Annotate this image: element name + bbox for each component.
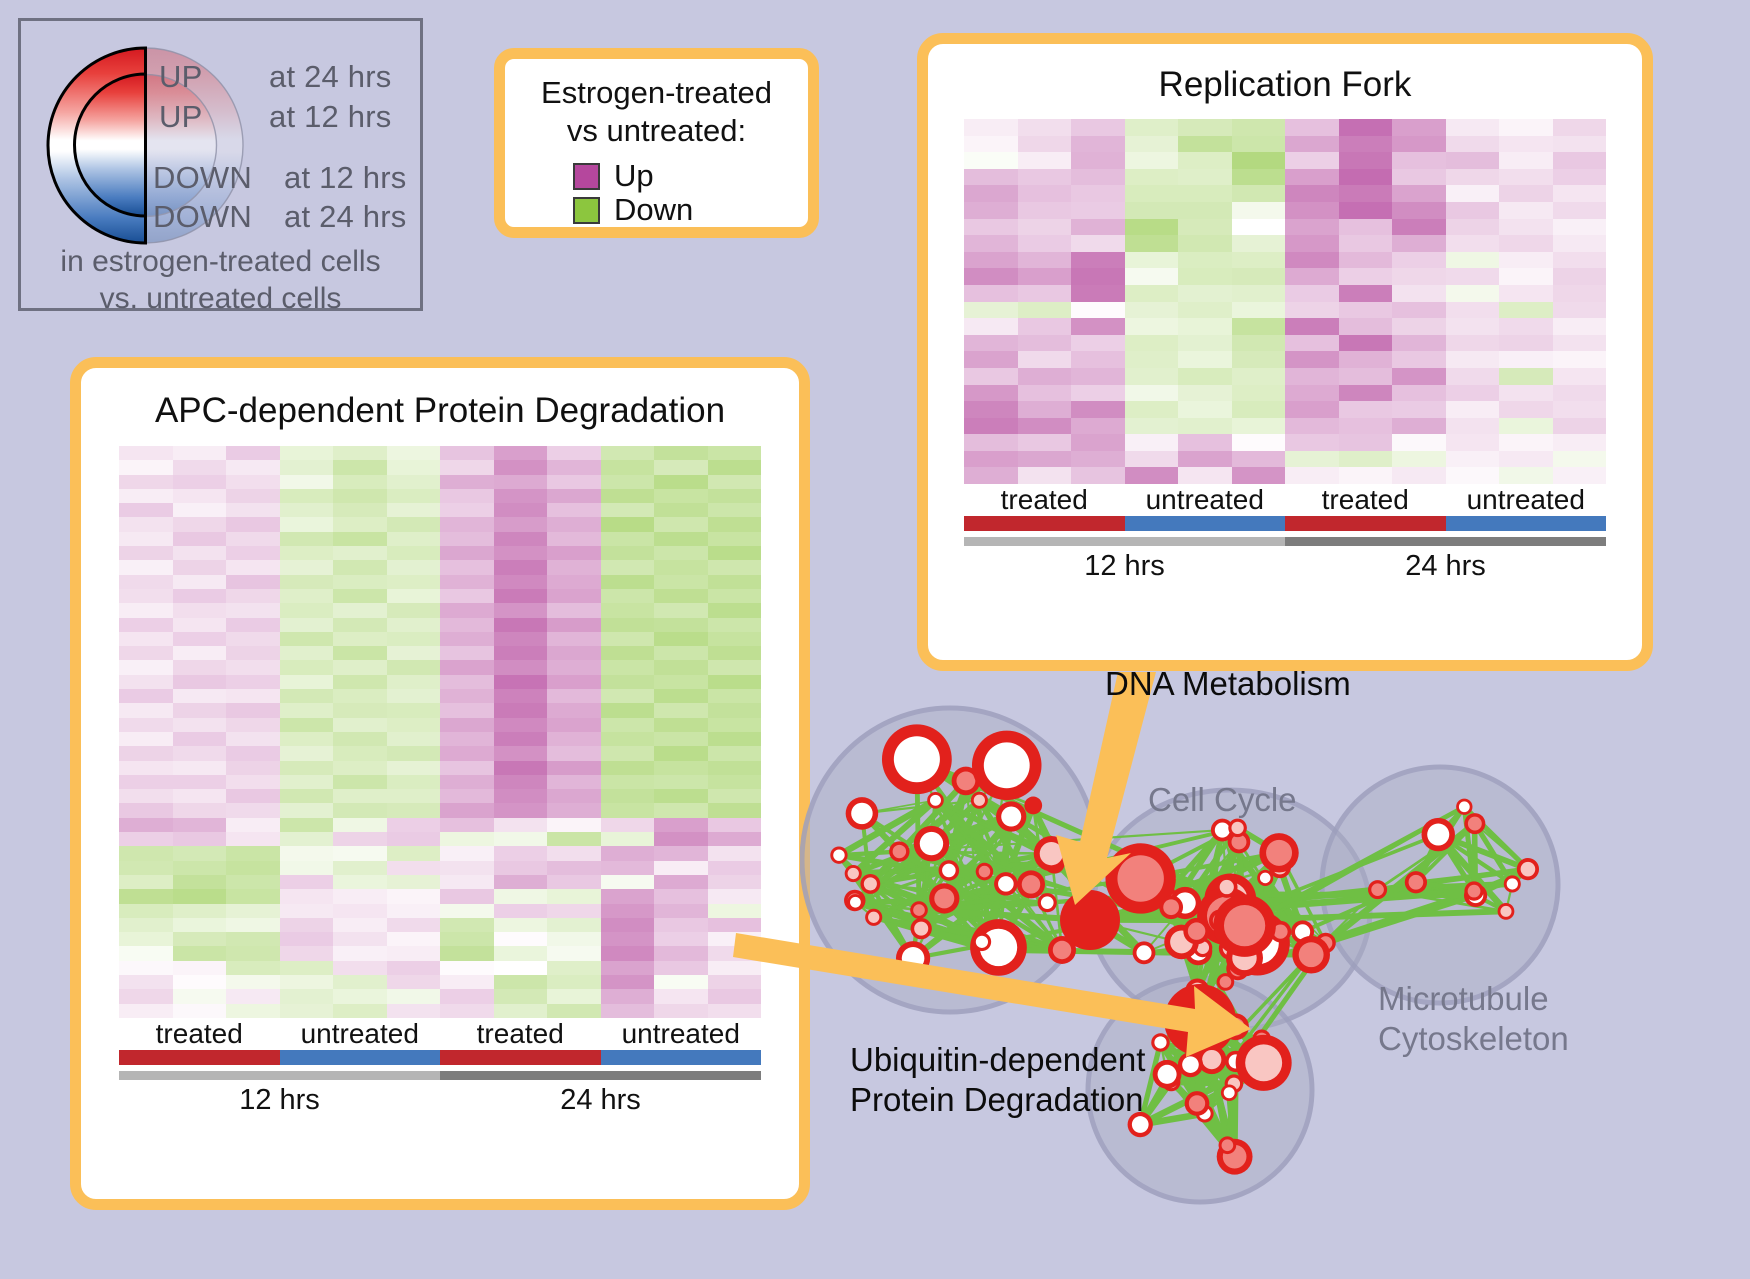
heatmap-cell [547, 789, 601, 803]
treatment-label: treated [1285, 484, 1446, 516]
heatmap-cell [387, 646, 441, 660]
heatmap-cell [1232, 169, 1286, 186]
heatmap-cell [440, 961, 494, 975]
heatmap-cell [440, 746, 494, 760]
treatment-color-bar [1446, 516, 1607, 531]
heatmap-cell [494, 803, 548, 817]
heatmap-cell [1285, 169, 1339, 186]
heatmap-cell [1178, 451, 1232, 468]
network-node-inner [934, 888, 954, 908]
heatmap-cell [1018, 119, 1072, 136]
heatmap-cell [387, 532, 441, 546]
heatmap-cell [1339, 368, 1393, 385]
heatmap-cell [440, 989, 494, 1003]
heatmap-cell [1339, 401, 1393, 418]
heatmap-cell [1178, 235, 1232, 252]
heatmap-cell [654, 603, 708, 617]
heatmap-cell [1499, 385, 1553, 402]
heatmap-cell [1553, 451, 1607, 468]
heatmap-cell [280, 718, 334, 732]
heatmap-cell [280, 446, 334, 460]
pathway-network-diagram [800, 620, 1750, 1279]
heatmap-cell [654, 775, 708, 789]
heatmap-cell [1018, 385, 1072, 402]
heatmap-cell [494, 946, 548, 960]
heatmap-cell [601, 861, 655, 875]
heatmap-cell [494, 660, 548, 674]
heatmap-cell [1285, 434, 1339, 451]
heatmap-cell [387, 618, 441, 632]
network-node-inner [974, 795, 985, 806]
heatmap-cell [1285, 119, 1339, 136]
heatmap-cell [1125, 202, 1179, 219]
heatmap-cell [280, 946, 334, 960]
heatmap-cell [1499, 202, 1553, 219]
heatmap-cell [280, 475, 334, 489]
heatmap-cell [601, 546, 655, 560]
heatmap-cell [226, 589, 280, 603]
heatmap-cell [1232, 268, 1286, 285]
heatmap-cell [333, 532, 387, 546]
heatmap-cell [1018, 368, 1072, 385]
heatmap-cell [1125, 152, 1179, 169]
heatmap-cell [387, 761, 441, 775]
heatmap-cell [1178, 401, 1232, 418]
heatmap-cell [226, 489, 280, 503]
heatmap-cell [708, 889, 762, 903]
heatmap-cell [333, 818, 387, 832]
network-node-inner [1187, 1016, 1203, 1032]
heatmap-cell [387, 703, 441, 717]
heatmap-cell [708, 775, 762, 789]
heatmap-cell [333, 918, 387, 932]
heatmap-cell [1392, 202, 1446, 219]
heatmap-cell [333, 904, 387, 918]
network-node-inner [894, 736, 940, 782]
heatmap-cell [654, 589, 708, 603]
heatmap-cell [708, 861, 762, 875]
heatmap-cell [494, 532, 548, 546]
heatmap-cell [1392, 434, 1446, 451]
heatmap-cell [547, 918, 601, 932]
heatmap-cell [1553, 285, 1607, 302]
heatmap-cell [440, 603, 494, 617]
network-node-inner [1053, 941, 1071, 959]
heatmap-cell [708, 961, 762, 975]
up-label: Up [614, 159, 654, 193]
heatmap-cell [547, 446, 601, 460]
heatmap-cell [333, 460, 387, 474]
network-node-inner [1022, 875, 1041, 894]
heatmap-cell [708, 618, 762, 632]
heatmap-cell [440, 846, 494, 860]
network-node-inner [1459, 801, 1470, 812]
network-node-inner [1215, 823, 1230, 838]
treatment-label: untreated [280, 1018, 441, 1050]
heatmap-cell [226, 546, 280, 560]
heatmap-cell [1285, 451, 1339, 468]
replication-fork-treatment-labels: treateduntreatedtreateduntreated [964, 484, 1606, 516]
heatmap-cell [601, 646, 655, 660]
heatmap-cell [387, 803, 441, 817]
network-node [1024, 797, 1042, 815]
heatmap-cell [547, 832, 601, 846]
heatmap-cell [1339, 351, 1393, 368]
heatmap-cell [1339, 202, 1393, 219]
heatmap-cell [601, 932, 655, 946]
heatmap-cell [708, 675, 762, 689]
heatmap-cell [1499, 252, 1553, 269]
ring-row-1-time: at 12 hrs [269, 99, 391, 135]
heatmap-cell [494, 632, 548, 646]
heatmap-cell [1499, 285, 1553, 302]
heatmap-cell [119, 546, 173, 560]
heatmap-cell [173, 889, 227, 903]
up-color-swatch [573, 163, 600, 190]
heatmap-cell [280, 618, 334, 632]
heatmap-cell [387, 932, 441, 946]
heatmap-cell [1071, 252, 1125, 269]
heatmap-cell [601, 746, 655, 760]
network-node-inner [1189, 1095, 1205, 1111]
heatmap-cell [1232, 335, 1286, 352]
heatmap-cell [1339, 152, 1393, 169]
heatmap-cell [333, 846, 387, 860]
heatmap-cell [601, 660, 655, 674]
heatmap-cell [173, 875, 227, 889]
heatmap-cell [280, 489, 334, 503]
network-node-inner [976, 936, 988, 948]
heatmap-cell [1018, 185, 1072, 202]
heatmap-cell [440, 789, 494, 803]
heatmap-cell [1499, 401, 1553, 418]
heatmap-cell [1285, 351, 1339, 368]
heatmap-cell [226, 832, 280, 846]
heatmap-cell [1125, 467, 1179, 484]
heatmap-cell [1446, 252, 1500, 269]
heatmap-cell [547, 932, 601, 946]
heatmap-cell [333, 889, 387, 903]
heatmap-cell [280, 832, 334, 846]
heatmap-cell [1018, 136, 1072, 153]
heatmap-cell [226, 818, 280, 832]
heatmap-cell [1071, 318, 1125, 335]
heatmap-cell [173, 560, 227, 574]
heatmap-cell [280, 517, 334, 531]
heatmap-cell [173, 904, 227, 918]
heatmap-cell [440, 660, 494, 674]
heatmap-cell [1018, 318, 1072, 335]
network-node-inner [1231, 822, 1243, 834]
heatmap-cell [1339, 451, 1393, 468]
heatmap-cell [1392, 252, 1446, 269]
heatmap-cell [708, 689, 762, 703]
heatmap-cell [1553, 302, 1607, 319]
heatmap-cell [173, 789, 227, 803]
heatmap-cell [708, 818, 762, 832]
network-node-inner [1507, 878, 1518, 889]
heatmap-cell [494, 775, 548, 789]
heatmap-cell [440, 532, 494, 546]
heatmap-cell [708, 603, 762, 617]
heatmap-cell [1446, 136, 1500, 153]
heatmap-cell [440, 889, 494, 903]
heatmap-cell [1392, 268, 1446, 285]
heatmap-cell [280, 546, 334, 560]
heatmap-cell [280, 1004, 334, 1018]
heatmap-cell [1499, 235, 1553, 252]
network-node-inner [1001, 807, 1021, 827]
heatmap-cell [226, 660, 280, 674]
heatmap-cell [333, 575, 387, 589]
heatmap-cell [173, 961, 227, 975]
network-node-inner [1227, 1018, 1245, 1036]
heatmap-cell [440, 546, 494, 560]
heatmap-cell [1392, 185, 1446, 202]
heatmap-cell [1125, 302, 1179, 319]
heatmap-cell [387, 1004, 441, 1018]
heatmap-cell [547, 989, 601, 1003]
replication-fork-time-bar [964, 537, 1606, 546]
heatmap-cell [708, 846, 762, 860]
heatmap-cell [1178, 219, 1232, 236]
heatmap-cell [1339, 302, 1393, 319]
heatmap-cell [547, 761, 601, 775]
heatmap-cell [387, 689, 441, 703]
heatmap-cell [1339, 335, 1393, 352]
heatmap-cell [440, 875, 494, 889]
network-node-inner [1299, 942, 1324, 967]
heatmap-cell [654, 761, 708, 775]
heatmap-cell [1499, 467, 1553, 484]
heatmap-cell [1553, 185, 1607, 202]
heatmap-cell [440, 460, 494, 474]
heatmap-cell [1446, 318, 1500, 335]
heatmap-cell [1232, 185, 1286, 202]
replication-fork-title: Replication Fork [928, 44, 1642, 105]
heatmap-cell [1499, 169, 1553, 186]
heatmap-cell [1125, 268, 1179, 285]
heatmap-cell [494, 932, 548, 946]
heatmap-cell [226, 775, 280, 789]
heatmap-cell [964, 302, 1018, 319]
heatmap-cell [1392, 119, 1446, 136]
heatmap-cell [494, 503, 548, 517]
heatmap-cell [1285, 335, 1339, 352]
heatmap-cell [964, 285, 1018, 302]
treatment-color-bar [119, 1050, 280, 1065]
heatmap-cell [440, 689, 494, 703]
heatmap-cell [1232, 252, 1286, 269]
heatmap-cell [494, 560, 548, 574]
heatmap-cell [708, 932, 762, 946]
heatmap-cell [494, 718, 548, 732]
heatmap-cell [280, 575, 334, 589]
heatmap-cell [547, 675, 601, 689]
heatmap-cell [964, 418, 1018, 435]
heatmap-cell [1553, 467, 1607, 484]
heatmap-cell [601, 732, 655, 746]
heatmap-cell [1018, 235, 1072, 252]
heatmap-cell [119, 918, 173, 932]
heatmap-cell [708, 761, 762, 775]
microtubule-label-line-2: Cytoskeleton [1378, 1019, 1569, 1059]
heatmap-cell [1499, 418, 1553, 435]
network-node-inner [1163, 899, 1179, 915]
heatmap-cell [333, 789, 387, 803]
heatmap-cell [1285, 467, 1339, 484]
heatmap-cell [1178, 202, 1232, 219]
heatmap-cell [173, 503, 227, 517]
heatmap-cell [280, 989, 334, 1003]
heatmap-cell [547, 689, 601, 703]
network-node-inner [1182, 1056, 1199, 1073]
heatmap-cell [964, 235, 1018, 252]
heatmap-cell [547, 575, 601, 589]
heatmap-cell [226, 789, 280, 803]
heatmap-cell [708, 446, 762, 460]
ring-row-2-direction: DOWN [153, 160, 252, 196]
heatmap-cell [333, 875, 387, 889]
heatmap-cell [173, 575, 227, 589]
heatmap-cell [1285, 385, 1339, 402]
heatmap-cell [1232, 385, 1286, 402]
heatmap-cell [1071, 335, 1125, 352]
heatmap-cell [654, 632, 708, 646]
heatmap-cell [547, 603, 601, 617]
heatmap-cell [173, 803, 227, 817]
heatmap-cell [1392, 285, 1446, 302]
treatment-label: untreated [1125, 484, 1286, 516]
heatmap-cell [173, 689, 227, 703]
heatmap-cell [440, 503, 494, 517]
heatmap-cell [119, 875, 173, 889]
heatmap-cell [1553, 219, 1607, 236]
network-node-inner [1427, 824, 1449, 846]
heatmap-cell [654, 703, 708, 717]
ring-row-1-direction: UP [159, 99, 202, 135]
heatmap-cell [1285, 285, 1339, 302]
heatmap-cell [1071, 434, 1125, 451]
heatmap-cell [1018, 434, 1072, 451]
apc-time-bar [119, 1071, 761, 1080]
heatmap-cell [173, 532, 227, 546]
heatmap-cell [280, 846, 334, 860]
heatmap-cell [280, 689, 334, 703]
heatmap-cell [1178, 185, 1232, 202]
heatmap-cell [1071, 169, 1125, 186]
heatmap-cell [280, 861, 334, 875]
heatmap-cell [1071, 451, 1125, 468]
heatmap-cell [494, 961, 548, 975]
network-node-inner [893, 845, 906, 858]
heatmap-cell [1339, 119, 1393, 136]
heatmap-cell [173, 775, 227, 789]
network-node-inner [833, 849, 844, 860]
heatmap-cell [601, 618, 655, 632]
heatmap-cell [333, 946, 387, 960]
heatmap-cell [226, 703, 280, 717]
ubiquitin-label-line-2: Protein Degradation [850, 1080, 1145, 1120]
heatmap-cell [547, 961, 601, 975]
legend-key-up: Up [573, 159, 808, 193]
heatmap-cell [1285, 418, 1339, 435]
heatmap-cell [387, 446, 441, 460]
heatmap-cell [601, 703, 655, 717]
heatmap-cell [1339, 169, 1393, 186]
heatmap-cell [1178, 418, 1232, 435]
heatmap-cell [1553, 169, 1607, 186]
heatmap-cell [708, 532, 762, 546]
heatmap-cell [1446, 169, 1500, 186]
down-label: Down [614, 193, 693, 227]
heatmap-cell [654, 904, 708, 918]
network-node-inner [1260, 873, 1271, 884]
heatmap-cell [1446, 401, 1500, 418]
heatmap-cell [226, 875, 280, 889]
time-label: 24 hrs [1285, 546, 1606, 583]
heatmap-cell [547, 946, 601, 960]
heatmap-cell [654, 746, 708, 760]
heatmap-cell [601, 632, 655, 646]
heatmap-cell [654, 989, 708, 1003]
heatmap-cell [964, 202, 1018, 219]
heatmap-cell [387, 589, 441, 603]
heatmap-cell [387, 575, 441, 589]
heatmap-cell [601, 1004, 655, 1018]
network-node-inner [850, 897, 861, 908]
heatmap-cell [1285, 318, 1339, 335]
network-node-inner [1500, 906, 1511, 917]
heatmap-cell [119, 718, 173, 732]
heatmap-cell [1553, 318, 1607, 335]
heatmap-cell [494, 675, 548, 689]
heatmap-cell [119, 1004, 173, 1018]
heatmap-cell [173, 618, 227, 632]
heatmap-cell [494, 861, 548, 875]
heatmap-cell [494, 546, 548, 560]
heatmap-cell [173, 861, 227, 875]
heatmap-cell [119, 703, 173, 717]
heatmap-cell [173, 446, 227, 460]
heatmap-cell [654, 575, 708, 589]
heatmap-cell [708, 703, 762, 717]
heatmap-cell [708, 832, 762, 846]
heatmap-cell [280, 775, 334, 789]
heatmap-cell [708, 803, 762, 817]
heatmap-cell [280, 675, 334, 689]
heatmap-cell [119, 675, 173, 689]
replication-fork-heatmap [964, 119, 1606, 484]
heatmap-cell [119, 732, 173, 746]
heatmap-cell [654, 446, 708, 460]
cluster-label-cell-cycle: Cell Cycle [1148, 780, 1297, 820]
heatmap-cell [964, 368, 1018, 385]
heatmap-cell [1392, 169, 1446, 186]
heatmap-cell [226, 689, 280, 703]
heatmap-cell [494, 460, 548, 474]
updown-title-line-1: Estrogen-treated [505, 74, 808, 112]
heatmap-cell [226, 460, 280, 474]
heatmap-cell [1392, 152, 1446, 169]
heatmap-cell [1339, 185, 1393, 202]
heatmap-cell [333, 861, 387, 875]
heatmap-cell [494, 446, 548, 460]
heatmap-cell [494, 904, 548, 918]
treatment-label: untreated [601, 1018, 762, 1050]
heatmap-cell [1125, 385, 1179, 402]
heatmap-cell [119, 603, 173, 617]
